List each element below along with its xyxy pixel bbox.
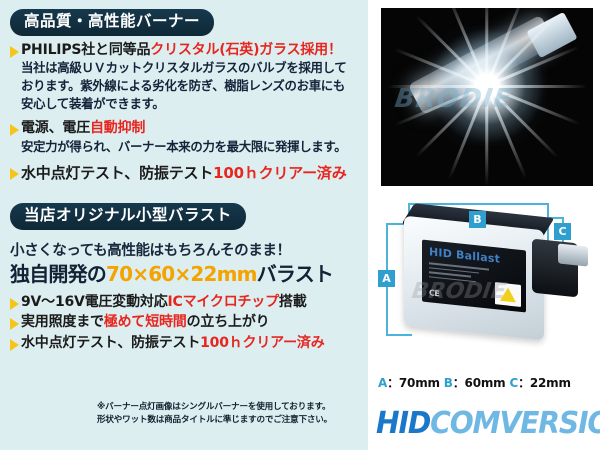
bullet-lead-highlight: 自動抑制: [90, 120, 145, 136]
brand-comversion-kit: COMVERSION KIT: [430, 406, 600, 441]
bullet-triangle-icon: [10, 298, 19, 310]
burner-section-badge: 高品質・高性能バーナー: [10, 9, 214, 36]
bullet-lead-plain: PHILIPS社と同等品: [21, 42, 150, 58]
dimension-marker-b: B: [469, 211, 486, 228]
bullet-triangle-icon: [10, 168, 19, 180]
headline-dimensions: 70×60×22mm: [106, 262, 257, 286]
bullet-lead-plain: 水中点灯テスト、防振テスト: [21, 164, 213, 182]
bullet-plain-1: 実用照度まで: [21, 314, 104, 330]
bullet-lead-highlight: クリスタル(石英)ガラス採用！: [150, 42, 342, 58]
body-line: おります。紫外線による劣化を防ぎ、樹脂レンズのお車にも: [21, 77, 362, 95]
ballast-lead-line: 小さくなっても高性能はもちろんそのまま！: [10, 239, 362, 260]
bullet-plain-1: 9V～16V電圧変動対応: [21, 294, 168, 310]
legend-key-c: C: [509, 376, 518, 390]
photo-watermark: BRODIE: [410, 279, 507, 304]
bullet-plain-1: 水中点灯テスト、防振テスト: [21, 335, 200, 351]
burner-bullet-1-body: 当社は高級ＵＶカットクリスタルガラスのバルブを採用して おります。紫外線による劣…: [21, 59, 362, 112]
dimension-marker-c: C: [554, 223, 571, 240]
bullet-lead-plain: 電源、電圧: [21, 120, 90, 136]
dimension-legend: A：70mm B：60mm C：22mm: [378, 374, 571, 391]
bullet-highlight: 極めて短時間: [104, 314, 187, 330]
burner-bullet-2: 電源、電圧自動抑制 安定力が得られ、バーナー本来の力を最大限に発揮します。: [10, 120, 362, 155]
brand-hid: HID: [376, 406, 430, 441]
bullet-lead-highlight: 100ｈクリアー済み: [213, 164, 346, 182]
ballast-product-photo: HID Ballast CE BRODIE A B C: [372, 193, 598, 373]
dimension-tick-a-bottom: [386, 334, 412, 336]
legend-value-a: ：70mm: [387, 376, 440, 390]
ballast-bullet-1: 9V～16V電圧変動対応ICマイクロチップ搭載: [10, 294, 362, 312]
ballast-bullet-2: 実用照度まで極めて短時間の立ち上がり: [10, 314, 362, 332]
bulb-product-photo: BRODIE: [381, 8, 593, 186]
bullet-triangle-icon: [10, 339, 19, 351]
ballast-section-badge: 当店オリジナル小型バラスト: [10, 203, 246, 230]
bullet-plain-2: 搭載: [279, 294, 307, 310]
ballast-connector-nut: [558, 243, 588, 266]
burner-bullet-2-body: 安定力が得られ、バーナー本来の力を最大限に発揮します。: [21, 138, 362, 156]
product-banner: 高品質・高性能バーナー PHILIPS社と同等品クリスタル(石英)ガラス採用！ …: [0, 0, 600, 450]
ballast-bullet-3: 水中点灯テスト、防振テスト100ｈクリアー済み: [10, 335, 362, 353]
headline-post: バラスト: [257, 262, 333, 286]
brand-logo: HIDCOMVERSION KIT: [376, 409, 600, 439]
legend-value-b: ：60mm: [453, 376, 506, 390]
headline-pre: 独自開発の: [10, 262, 106, 286]
photo-watermark: BRODIE: [393, 84, 514, 114]
legend-key-b: B: [444, 376, 453, 390]
bullet-triangle-icon: [10, 46, 19, 58]
dimension-marker-a: A: [378, 270, 395, 287]
burner-bullet-1: PHILIPS社と同等品クリスタル(石英)ガラス採用！ 当社は高級ＵＶカットクリ…: [10, 42, 362, 112]
body-line: 当社は高級ＵＶカットクリスタルガラスのバルブを採用して: [21, 59, 362, 77]
bullet-highlight: 100ｈクリアー済み: [200, 335, 324, 351]
body-line: 安心して装着ができます。: [21, 95, 362, 113]
left-text-column: 高品質・高性能バーナー PHILIPS社と同等品クリスタル(石英)ガラス採用！ …: [0, 0, 368, 400]
bullet-triangle-icon: [10, 124, 19, 136]
disclaimer-line-1: ※バーナー点灯画像はシングルバーナーを使用しております。: [97, 401, 332, 414]
bullet-triangle-icon: [10, 318, 19, 330]
burner-bullet-3: 水中点灯テスト、防振テスト100ｈクリアー済み: [10, 164, 362, 183]
body-line: 安定力が得られ、バーナー本来の力を最大限に発揮します。: [21, 138, 362, 156]
legend-key-a: A: [378, 376, 387, 390]
legend-value-c: ：22mm: [518, 376, 571, 390]
ballast-headline: 独自開発の70×60×22mmバラスト: [10, 263, 362, 286]
bullet-highlight: ICマイクロチップ: [168, 294, 279, 310]
bullet-plain-2: の立ち上がり: [187, 314, 270, 330]
disclaimer-note: ※バーナー点灯画像はシングルバーナーを使用しております。 形状やワット数は商品タ…: [97, 401, 332, 427]
disclaimer-line-2: 形状やワット数は商品タイトルに準じますのでご注意下さい。: [97, 414, 332, 427]
